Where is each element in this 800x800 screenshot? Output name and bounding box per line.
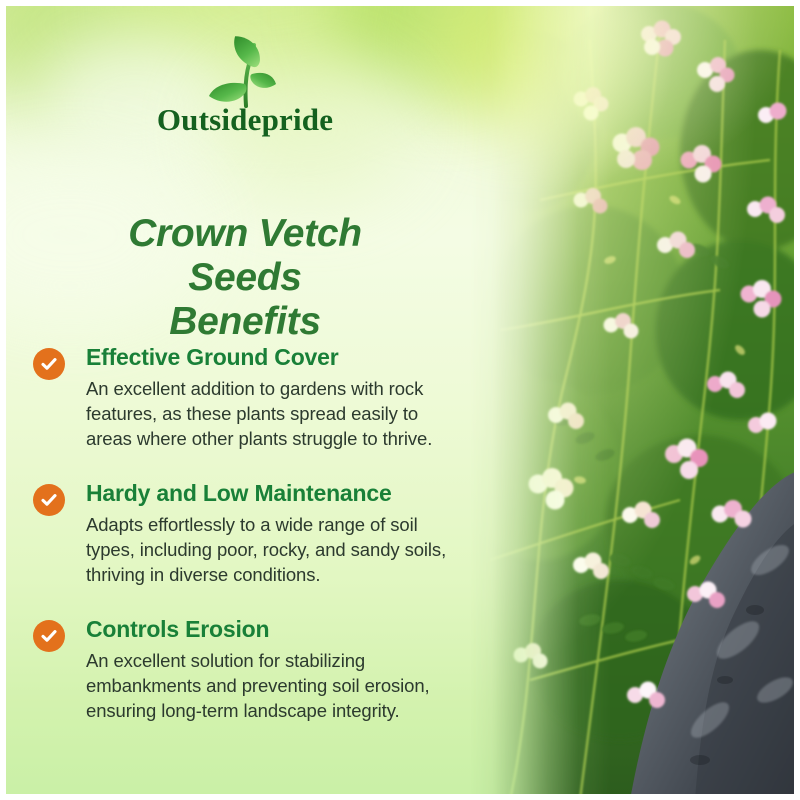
benefits-list: Effective Ground Cover An excellent addi… — [33, 344, 483, 723]
brand-logo[interactable]: Outsidepride — [0, 34, 490, 137]
benefit-heading: Hardy and Low Maintenance — [86, 480, 483, 507]
benefit-heading: Controls Erosion — [86, 616, 483, 643]
benefit-text-line-2: features, as these plants spread easily … — [86, 401, 483, 426]
infographic-canvas: Outsidepride Crown Vetch Seeds Benefits … — [0, 0, 800, 800]
benefit-text-line-3: thriving in diverse conditions. — [86, 562, 483, 587]
benefit-text-line-1: Adapts effortlessly to a wide range of s… — [86, 512, 483, 537]
crown-vetch-photo — [470, 0, 800, 800]
title-line-2: Seeds — [0, 256, 490, 300]
seedling-sprout-icon — [201, 34, 289, 108]
benefit-item-1: Effective Ground Cover An excellent addi… — [33, 344, 483, 451]
brand-name: Outsidepride — [0, 104, 490, 137]
check-circle-icon — [33, 484, 65, 516]
benefit-text-line-1: An excellent addition to gardens with ro… — [86, 376, 483, 401]
check-circle-icon — [33, 620, 65, 652]
benefit-description: An excellent solution for stabilizing em… — [86, 648, 483, 723]
benefit-text-line-2: embankments and preventing soil erosion, — [86, 673, 483, 698]
benefit-description: An excellent addition to gardens with ro… — [86, 376, 483, 451]
benefit-heading: Effective Ground Cover — [86, 344, 483, 371]
benefit-text-line-1: An excellent solution for stabilizing — [86, 648, 483, 673]
benefit-text-line-3: areas where other plants struggle to thr… — [86, 426, 483, 451]
title-line-1: Crown Vetch — [0, 212, 490, 256]
title-line-3: Benefits — [0, 300, 490, 344]
benefit-item-2: Hardy and Low Maintenance Adapts effortl… — [33, 480, 483, 587]
check-circle-icon — [33, 348, 65, 380]
benefit-text-line-3: ensuring long-term landscape integrity. — [86, 698, 483, 723]
benefit-item-3: Controls Erosion An excellent solution f… — [33, 616, 483, 723]
benefit-description: Adapts effortlessly to a wide range of s… — [86, 512, 483, 587]
benefit-text-line-2: types, including poor, rocky, and sandy … — [86, 537, 483, 562]
page-title: Crown Vetch Seeds Benefits — [0, 212, 490, 344]
